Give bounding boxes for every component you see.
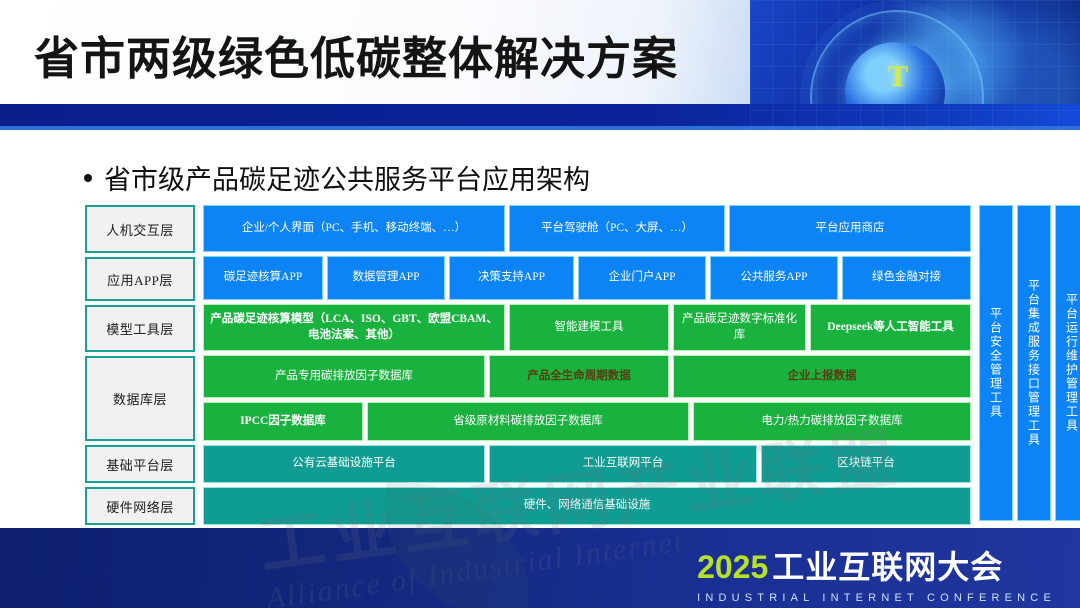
diagram-grid: 企业/个人界面（PC、手机、移动终端、…） 平台驾驶舱（PC、大屏、…） 平台应… [203,205,971,527]
cell-carbon-footprint-accounting-app: 碳足迹核算APP [203,256,323,300]
cell-platform-cockpit: 平台驾驶舱（PC、大屏、…） [509,205,725,252]
cell-digital-standardization-library: 产品碳足迹数字标准化库 [673,304,806,351]
page-title: 省市两级绿色低碳整体解决方案 [34,22,678,87]
cell-industrial-internet-platform: 工业互联网平台 [489,445,757,483]
layer-label-human-interaction: 人机交互层 [85,205,195,253]
slide: T 省市两级绿色低碳整体解决方案 省市级产品碳足迹公共服务平台应用架构 人机交互… [0,0,1080,608]
cell-platform-app-store: 平台应用商店 [729,205,971,252]
cell-data-management-app: 数据管理APP [327,256,445,300]
bullet-icon [84,174,92,182]
cell-product-lifecycle-data: 产品全生命周期数据 [489,355,669,398]
layer-label-base-platform: 基础平台层 [85,445,195,483]
vertical-tool-columns: 平台安全管理工具 平台集成服务接口管理工具 平台运行维护管理工具 [979,205,1080,527]
layer-label-model-tools: 模型工具层 [85,305,195,352]
layer-label-hardware-network: 硬件网络层 [85,487,195,525]
layer-label-database: 数据库层 [85,356,195,441]
slide-footer: 2025 工业互联网大会 INDUSTRIAL INTERNET CONFERE… [0,528,1080,608]
cell-green-finance-connection: 绿色金融对接 [842,256,971,300]
cell-public-cloud-infrastructure: 公有云基础设施平台 [203,445,485,483]
cell-product-emission-factor-db: 产品专用碳排放因子数据库 [203,355,485,398]
cell-intelligent-modeling-tool: 智能建模工具 [509,304,669,351]
architecture-diagram: 人机交互层 应用APP层 模型工具层 数据库层 基础平台层 硬件网络层 企业/个… [85,205,1015,527]
header-t-glyph: T [888,60,909,94]
header-grid-overlay [750,0,1080,130]
cell-enterprise-portal-app: 企业门户APP [578,256,706,300]
cell-ipcc-factor-db: IPCC因子数据库 [203,402,363,441]
vcol-platform-integration-api: 平台集成服务接口管理工具 [1017,205,1051,521]
cell-deepseek-ai-tools: Deepseek等人工智能工具 [810,304,971,351]
cell-power-heat-factor-db: 电力/热力碳排放因子数据库 [693,402,971,441]
header-decoration-graphic: T [750,0,1080,130]
conference-logo: 2025 工业互联网大会 INDUSTRIAL INTERNET CONFERE… [697,542,1056,604]
slide-header: T 省市两级绿色低碳整体解决方案 [0,0,1080,130]
cell-enterprise-personal-interface: 企业/个人界面（PC、手机、移动终端、…） [203,205,505,252]
vcol-platform-security-management: 平台安全管理工具 [979,205,1013,521]
subtitle-text: 省市级产品碳足迹公共服务平台应用架构 [104,158,590,197]
vcol-platform-operation-maintenance: 平台运行维护管理工具 [1055,205,1080,521]
conference-name-cn: 工业互联网大会 [772,542,1003,588]
layer-label-app: 应用APP层 [85,257,195,301]
cell-public-service-app: 公共服务APP [710,256,838,300]
cell-product-carbon-footprint-model: 产品碳足迹核算模型（LCA、ISO、GBT、欧盟CBAM、电池法案、其他） [203,304,505,351]
cell-decision-support-app: 决策支持APP [449,256,574,300]
layer-label-column: 人机交互层 应用APP层 模型工具层 数据库层 基础平台层 硬件网络层 [85,205,195,527]
cell-hardware-network-infrastructure: 硬件、网络通信基础设施 [203,487,971,525]
cell-provincial-material-factor-db: 省级原材料碳排放因子数据库 [367,402,689,441]
section-subtitle: 省市级产品碳足迹公共服务平台应用架构 [84,158,590,197]
cell-enterprise-reported-data: 企业上报数据 [673,355,971,398]
cell-blockchain-platform: 区块链平台 [761,445,971,483]
conference-year: 2025 [697,549,768,586]
conference-name-en: INDUSTRIAL INTERNET CONFERENCE [697,592,1056,604]
